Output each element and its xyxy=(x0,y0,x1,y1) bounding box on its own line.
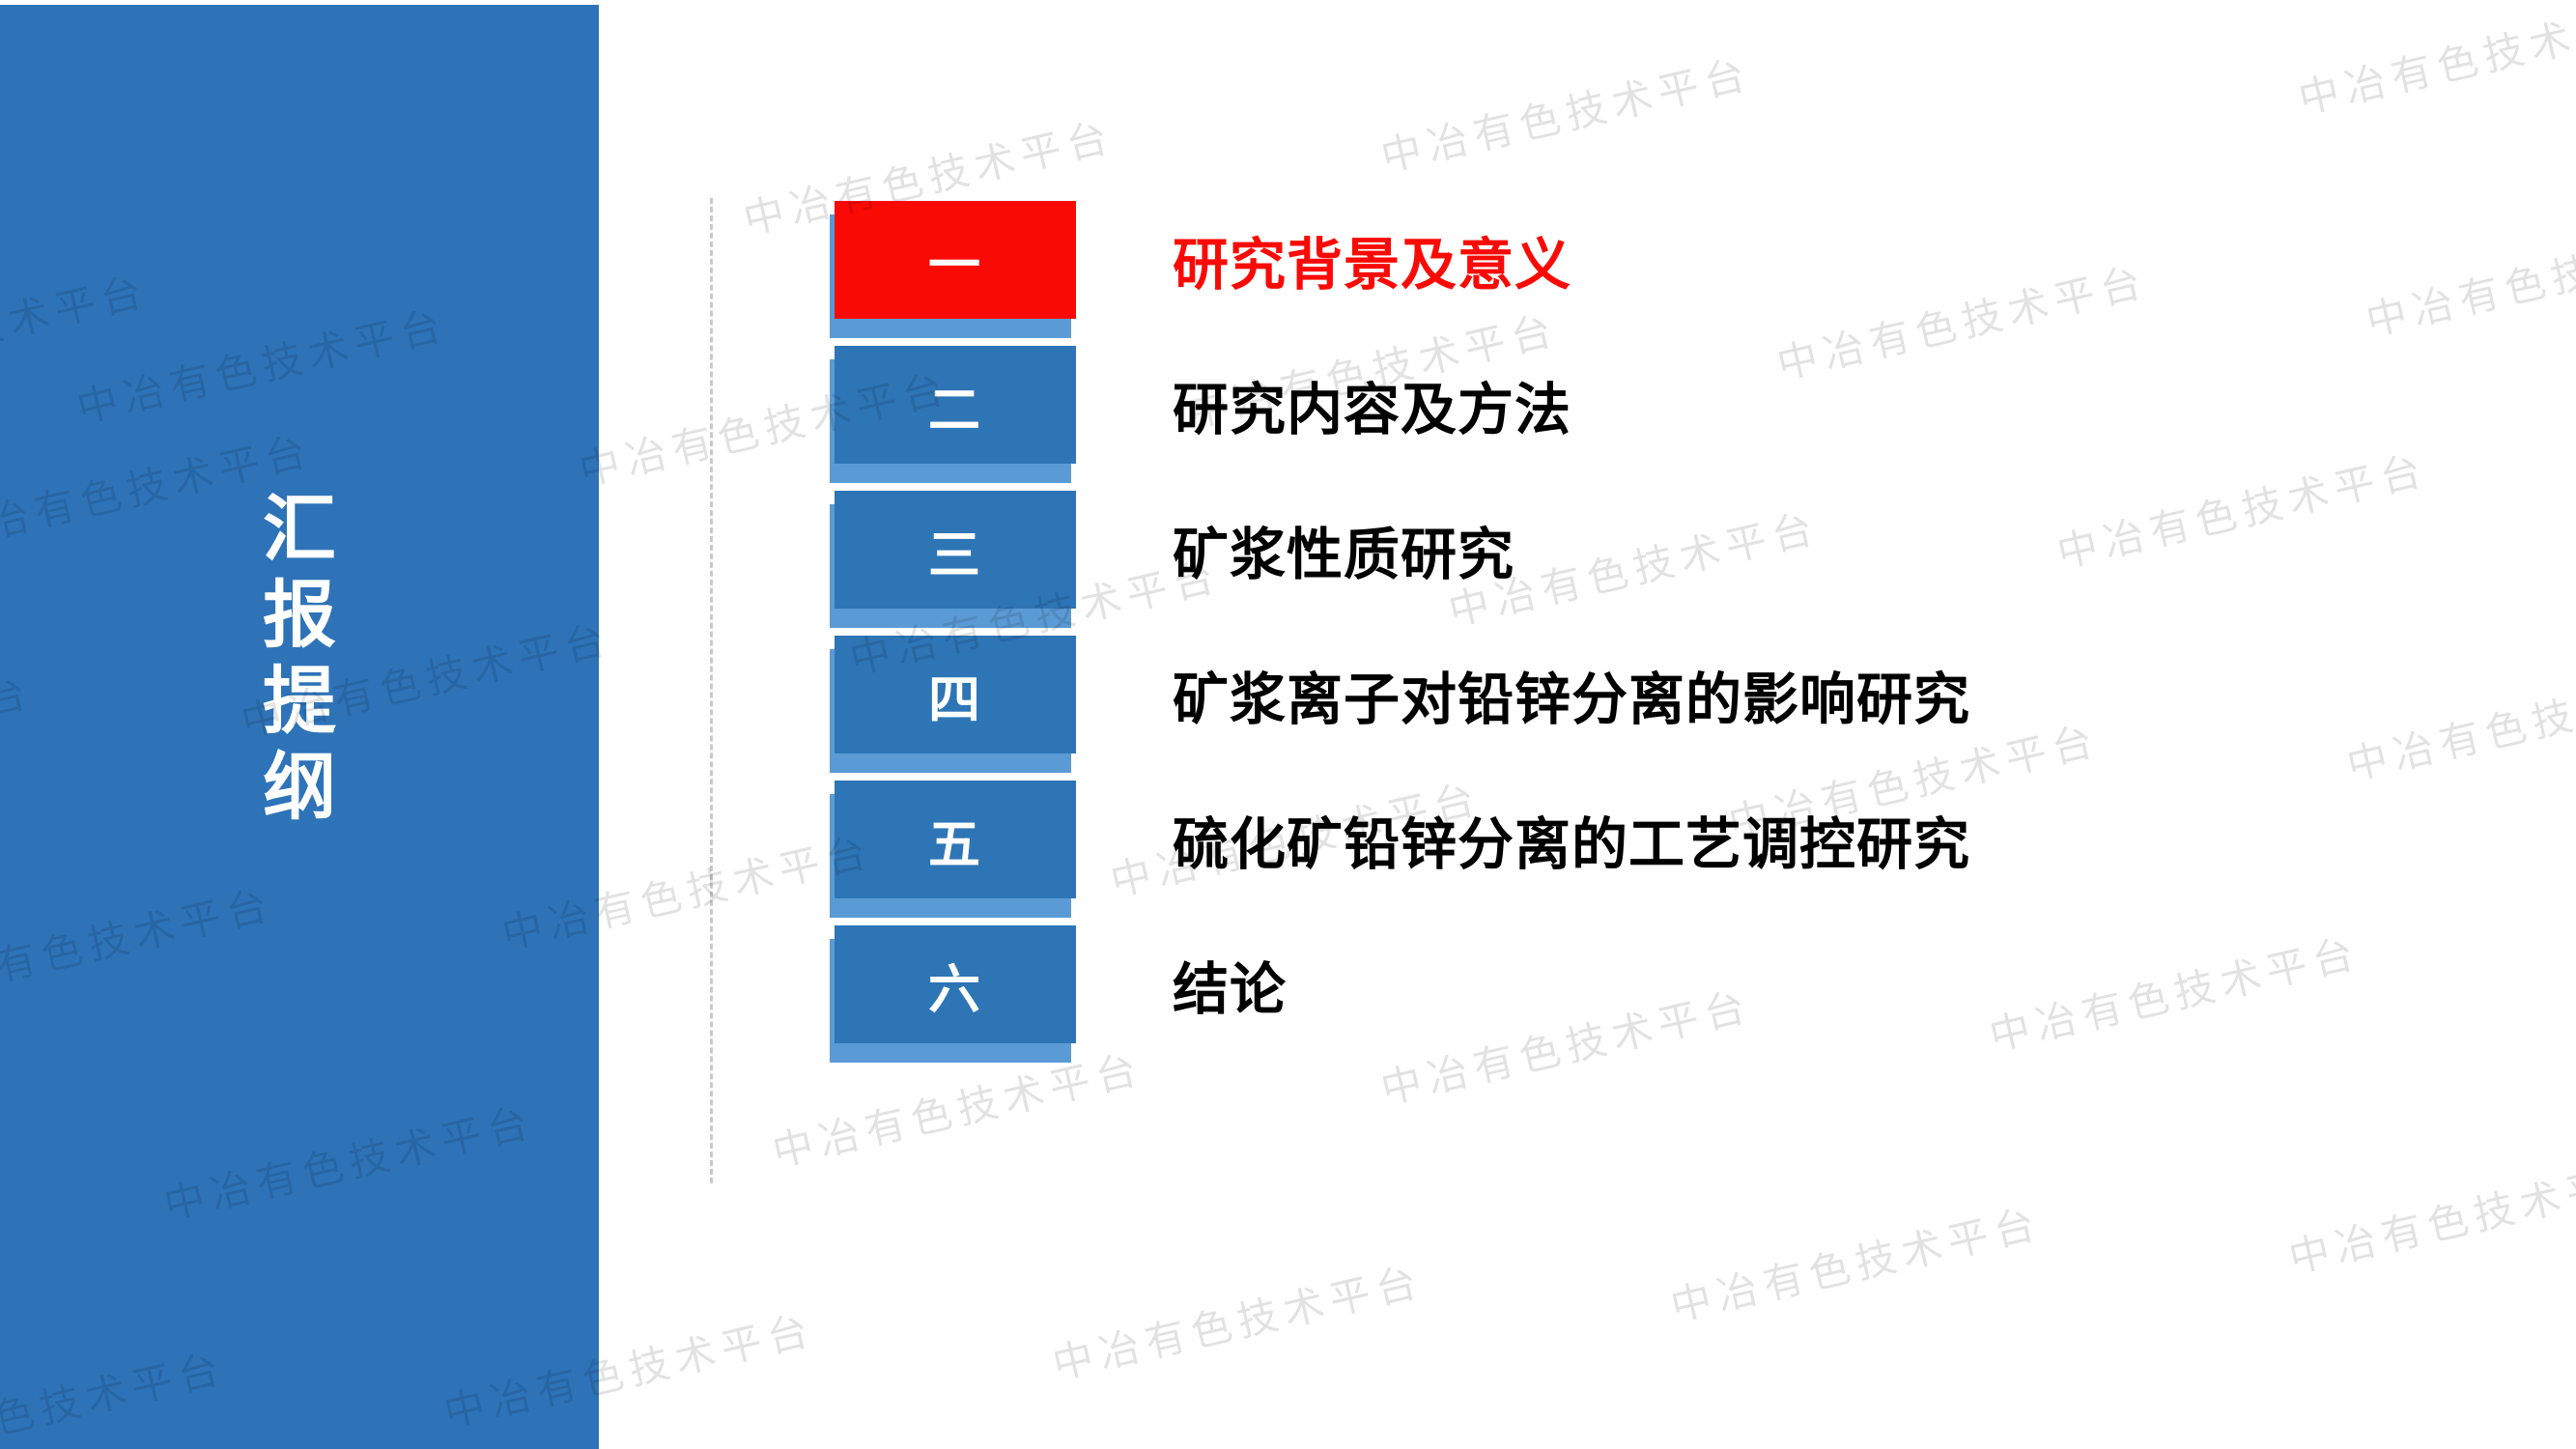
agenda-number-box[interactable]: 二 xyxy=(835,346,1076,464)
agenda-number-badge: 四 xyxy=(835,636,1086,759)
slide-canvas: 汇 报 提 纲 一研究背景及意义二研究内容及方法三矿浆性质研究四矿浆离子对铅锌分… xyxy=(0,0,2576,1449)
agenda-item-5[interactable]: 五硫化矿铅锌分离的工艺调控研究 xyxy=(835,781,2534,925)
agenda-number-badge: 五 xyxy=(835,781,1086,904)
agenda-item-label[interactable]: 研究内容及方法 xyxy=(1173,346,1571,464)
agenda-number-box[interactable]: 六 xyxy=(835,925,1076,1043)
agenda-number-badge: 一 xyxy=(835,201,1086,325)
agenda-number-box[interactable]: 一 xyxy=(835,201,1076,319)
agenda-number-box[interactable]: 五 xyxy=(835,781,1076,898)
vertical-dashed-guide xyxy=(710,198,713,1183)
agenda-item-label[interactable]: 矿浆性质研究 xyxy=(1173,491,1514,609)
agenda-list: 一研究背景及意义二研究内容及方法三矿浆性质研究四矿浆离子对铅锌分离的影响研究五硫… xyxy=(835,201,2534,1070)
agenda-item-1[interactable]: 一研究背景及意义 xyxy=(835,201,2534,346)
agenda-number-box[interactable]: 四 xyxy=(835,636,1076,753)
sidebar-panel: 汇 报 提 纲 xyxy=(0,5,599,1449)
agenda-number-badge: 二 xyxy=(835,346,1086,469)
agenda-number-badge: 六 xyxy=(835,925,1086,1049)
page-title-char-3: 提 xyxy=(0,660,599,746)
agenda-item-4[interactable]: 四矿浆离子对铅锌分离的影响研究 xyxy=(835,636,2534,781)
watermark-text: 中冶有色技术平台 xyxy=(1374,42,1757,185)
page-title-char-4: 纲 xyxy=(0,746,599,832)
agenda-item-3[interactable]: 三矿浆性质研究 xyxy=(835,491,2534,636)
page-title-char-1: 汇 xyxy=(0,488,599,574)
agenda-item-label[interactable]: 结论 xyxy=(1173,925,1287,1043)
page-title-char-2: 报 xyxy=(0,574,599,660)
agenda-item-label[interactable]: 研究背景及意义 xyxy=(1173,201,1571,319)
watermark-text: 中冶有色技术平台 xyxy=(1046,1249,1429,1392)
watermark-text: 中冶有色技术平台 xyxy=(1664,1191,2047,1334)
agenda-number-badge: 三 xyxy=(835,491,1086,614)
watermark-text: 中冶有色技术平台 xyxy=(2282,1143,2576,1286)
watermark-text: 中冶有色技术平台 xyxy=(2292,0,2576,126)
agenda-item-2[interactable]: 二研究内容及方法 xyxy=(835,346,2534,491)
agenda-number-box[interactable]: 三 xyxy=(835,491,1076,609)
agenda-item-6[interactable]: 六结论 xyxy=(835,925,2534,1070)
agenda-item-label[interactable]: 矿浆离子对铅锌分离的影响研究 xyxy=(1173,636,1970,753)
page-title: 汇 报 提 纲 xyxy=(0,488,599,832)
agenda-item-label[interactable]: 硫化矿铅锌分离的工艺调控研究 xyxy=(1173,781,1970,898)
